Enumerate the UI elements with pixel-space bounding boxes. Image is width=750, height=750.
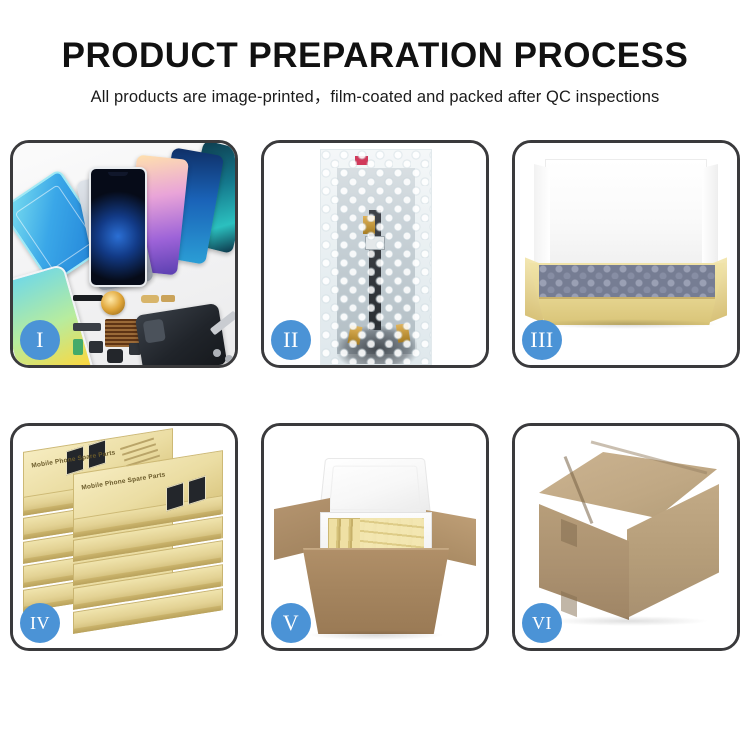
part-screw-b: [225, 355, 233, 363]
step-panel-4[interactable]: Mobile Phone Spare Parts Mobile Phone Sp…: [10, 423, 238, 651]
process-step-grid: I II: [10, 140, 740, 680]
step-badge-6: VI: [522, 603, 562, 643]
step-badge-3: III: [522, 320, 562, 360]
bubble-wrap-bag: [320, 149, 432, 365]
grey-foam-padding: [539, 265, 715, 297]
part-copper-coil: [101, 291, 125, 315]
carton-shadow: [308, 630, 444, 640]
part-battery-connector: [73, 295, 103, 301]
step-badge-4: IV: [20, 603, 60, 643]
box-shadow: [535, 319, 719, 329]
carton-shadow: [549, 616, 709, 626]
black-phone-display: [89, 167, 147, 287]
step-panel-2[interactable]: II: [261, 140, 489, 368]
part-flex-cable-a: [73, 323, 101, 331]
carton-front-face: [539, 504, 629, 620]
part-green-pcb: [73, 339, 83, 355]
page-title: PRODUCT PREPARATION PROCESS: [0, 36, 750, 76]
part-gold-flex-a: [141, 295, 159, 303]
bubble-texture: [321, 150, 431, 364]
page-subtitle: All products are image-printed，film-coat…: [0, 83, 750, 107]
foam-box-lid: [319, 458, 432, 519]
step-badge-1: I: [20, 320, 60, 360]
part-screw-a: [213, 349, 221, 357]
product-preparation-infographic: PRODUCT PREPARATION PROCESS All products…: [0, 0, 750, 750]
step-badge-2: II: [271, 320, 311, 360]
header: PRODUCT PREPARATION PROCESS All products…: [0, 0, 750, 128]
part-small-module-a: [89, 341, 103, 353]
step-badge-5: V: [271, 603, 311, 643]
step-panel-5[interactable]: V: [261, 423, 489, 651]
step-panel-6[interactable]: VI: [512, 423, 740, 651]
step-panel-1[interactable]: I: [10, 140, 238, 368]
part-gold-flex-b: [161, 295, 175, 302]
part-small-module-b: [107, 349, 123, 363]
white-box-lid: [545, 159, 707, 275]
outer-carton-body: [300, 550, 452, 634]
box-spec-line: [120, 438, 154, 450]
step-panel-3[interactable]: III: [512, 140, 740, 368]
